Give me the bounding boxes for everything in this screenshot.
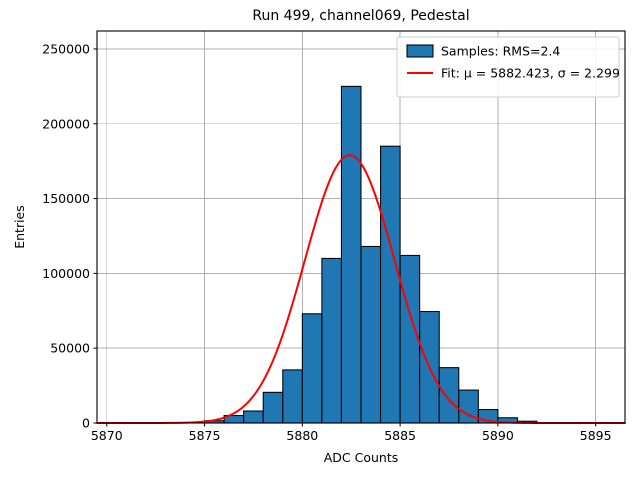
histogram-bar	[439, 368, 459, 423]
histogram-bar	[283, 370, 303, 423]
x-tick-label: 5890	[482, 428, 514, 443]
histogram-bar	[244, 411, 264, 423]
legend-label: Samples: RMS=2.4	[441, 44, 560, 59]
histogram-bar	[381, 146, 401, 423]
x-tick-label: 5895	[580, 428, 612, 443]
x-tick-label: 5880	[286, 428, 318, 443]
histogram-bar	[400, 255, 420, 423]
x-tick-label: 5885	[384, 428, 416, 443]
legend-label: Fit: μ = 5882.423, σ = 2.299	[441, 66, 620, 81]
histogram-bar	[361, 246, 381, 423]
y-tick-label: 250000	[42, 41, 90, 56]
histogram-bar	[322, 258, 342, 423]
chart-legend[interactable]: Samples: RMS=2.4Fit: μ = 5882.423, σ = 2…	[397, 37, 620, 97]
x-tick-label: 5870	[91, 428, 123, 443]
pedestal-histogram-chart: Run 499, channel069, Pedestal 5870587558…	[0, 0, 640, 480]
y-tick-label: 0	[82, 416, 90, 431]
figure-canvas: Run 499, channel069, Pedestal 5870587558…	[0, 0, 640, 480]
y-tick-label: 150000	[42, 191, 90, 206]
y-tick-label: 100000	[42, 266, 90, 281]
x-axis-label: ADC Counts	[324, 450, 399, 465]
y-axis-label: Entries	[12, 205, 27, 249]
y-tick-label: 200000	[42, 116, 90, 131]
x-tick-label: 5875	[189, 428, 221, 443]
histogram-bar	[341, 86, 361, 423]
chart-title: Run 499, channel069, Pedestal	[252, 8, 469, 24]
legend-swatch-samples	[407, 45, 433, 57]
histogram-bar	[302, 314, 322, 423]
histogram-bar	[263, 392, 283, 423]
y-tick-label: 50000	[50, 341, 90, 356]
